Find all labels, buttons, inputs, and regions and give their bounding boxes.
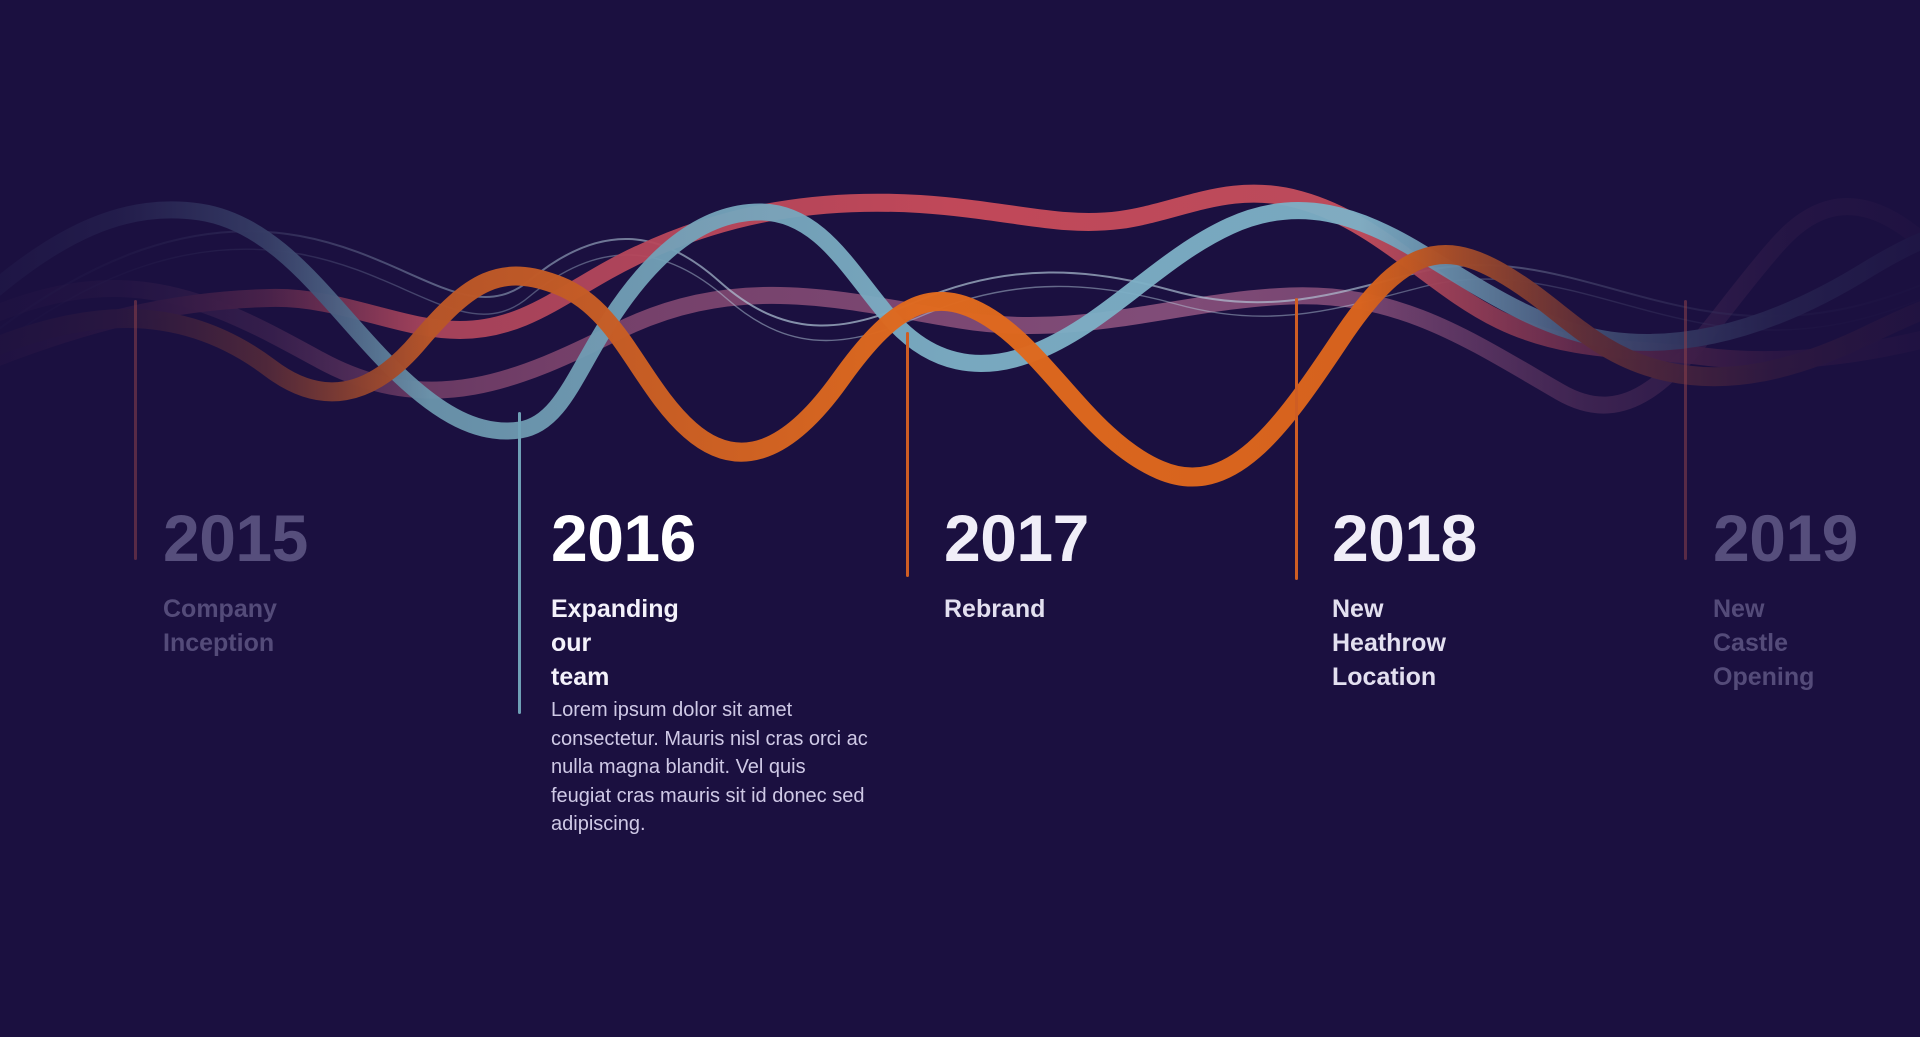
timeline-marker-2019 [1684,300,1687,560]
timeline-marker-2017 [906,332,909,577]
timeline-year-2016: 2016 [551,505,696,571]
timeline-year-2018: 2018 [1332,505,1477,571]
timeline-title-2018: New Heathrow Location [1332,592,1446,694]
timeline-body-2016: Lorem ipsum dolor sit amet consectetur. … [551,696,869,839]
timeline-title-2015: Company Inception [163,592,277,660]
wave-teal [0,210,1920,431]
timeline-title-2017: Rebrand [944,592,1045,626]
wave-red [0,194,1920,372]
wave-mauve [0,207,1920,406]
wave-hairline-2 [0,249,1920,376]
timeline-year-2017: 2017 [944,505,1089,571]
timeline-year-2019: 2019 [1713,505,1858,571]
wave-orange [0,255,1920,478]
timeline-marker-2018 [1295,298,1298,580]
timeline-infographic: 2015Company Inception2016Expanding our t… [0,0,1920,1037]
timeline-year-2015: 2015 [163,505,308,571]
timeline-marker-2015 [134,300,137,560]
wave-hairline-1 [0,231,1920,360]
timeline-title-2016: Expanding our team [551,592,679,694]
timeline-marker-2016 [518,412,521,714]
timeline-title-2019: New Castle Opening [1713,592,1814,694]
